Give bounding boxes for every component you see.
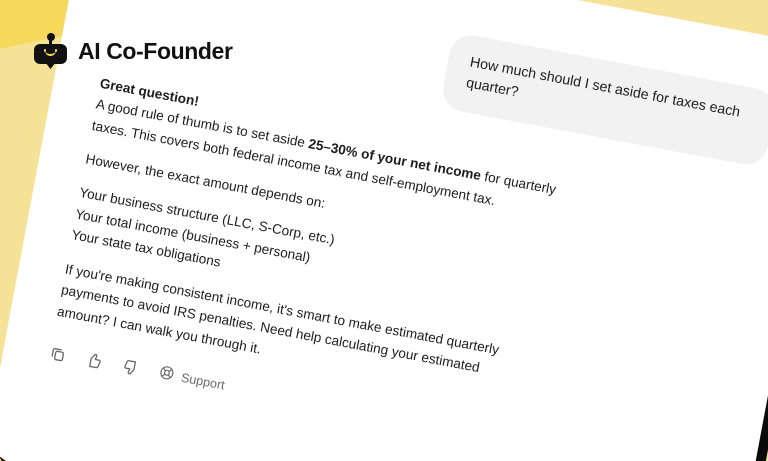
lifebuoy-icon — [157, 364, 176, 386]
chat-card: How much should I set aside for taxes ea… — [0, 0, 768, 461]
chat-thread: How much should I set aside for taxes ea… — [3, 0, 768, 461]
chat-card-container: How much should I set aside for taxes ea… — [0, 0, 768, 461]
assistant-message-row: Great question! A good rule of thumb is … — [48, 72, 564, 448]
thumbs-up-icon[interactable] — [84, 351, 104, 371]
robot-icon — [34, 33, 67, 69]
screenshot-stage: AI Co-Founder How much should I set asid… — [0, 0, 768, 461]
brand-logo: AI Co-Founder — [34, 33, 233, 69]
copy-icon[interactable] — [48, 344, 68, 364]
support-button[interactable]: Support — [157, 364, 226, 395]
brand-name: AI Co-Founder — [78, 38, 233, 65]
support-label: Support — [180, 370, 226, 392]
thumbs-down-icon[interactable] — [121, 358, 141, 378]
robot-chin — [45, 62, 56, 69]
